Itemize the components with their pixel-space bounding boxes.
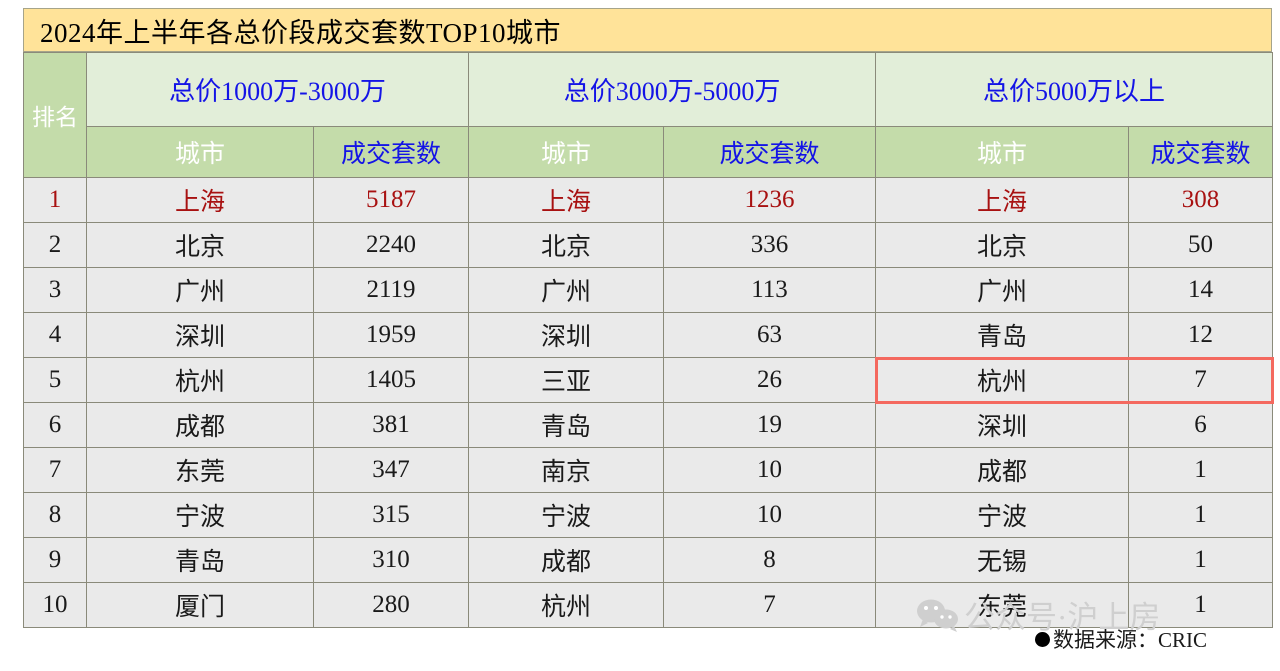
- cell-count-2: 26: [664, 358, 876, 403]
- cell-rank: 5: [24, 358, 87, 403]
- table-row: 10厦门280杭州7东莞1: [24, 583, 1273, 628]
- cell-count-2: 63: [664, 313, 876, 358]
- cell-count-3: 14: [1129, 268, 1273, 313]
- cell-count-2: 19: [664, 403, 876, 448]
- cell-count-3: 12: [1129, 313, 1273, 358]
- cell-city-2: 南京: [469, 448, 664, 493]
- group-header-1: 总价1000万-3000万: [87, 53, 469, 127]
- column-header-count-3: 成交套数: [1129, 127, 1273, 178]
- cell-city-1: 广州: [87, 268, 314, 313]
- cell-city-3: 成都: [876, 448, 1129, 493]
- cell-city-1: 上海: [87, 178, 314, 223]
- ranking-table: 排名 总价1000万-3000万 总价3000万-5000万 总价5000万以上…: [23, 52, 1273, 628]
- cell-rank: 6: [24, 403, 87, 448]
- column-header-city-1: 城市: [87, 127, 314, 178]
- cell-count-1: 1405: [314, 358, 469, 403]
- cell-count-1: 2119: [314, 268, 469, 313]
- column-header-count-1: 成交套数: [314, 127, 469, 178]
- cell-rank: 4: [24, 313, 87, 358]
- cell-city-1: 杭州: [87, 358, 314, 403]
- bullet-icon: [1035, 632, 1050, 647]
- cell-count-2: 10: [664, 493, 876, 538]
- column-header-city-3: 城市: [876, 127, 1129, 178]
- table-row: 1上海5187上海1236上海308: [24, 178, 1273, 223]
- cell-count-3: 6: [1129, 403, 1273, 448]
- cell-rank: 10: [24, 583, 87, 628]
- cell-city-2: 青岛: [469, 403, 664, 448]
- cell-city-2: 上海: [469, 178, 664, 223]
- cell-count-2: 10: [664, 448, 876, 493]
- column-header-city-2: 城市: [469, 127, 664, 178]
- table-row: 7东莞347南京10成都1: [24, 448, 1273, 493]
- table-row: 6成都381青岛19深圳6: [24, 403, 1273, 448]
- cell-city-3: 青岛: [876, 313, 1129, 358]
- cell-count-1: 280: [314, 583, 469, 628]
- cell-city-1: 宁波: [87, 493, 314, 538]
- table-title-bar: 2024年上半年各总价段成交套数TOP10城市: [23, 8, 1272, 52]
- cell-count-1: 315: [314, 493, 469, 538]
- column-header-rank: 排名: [24, 53, 87, 178]
- group-header-2: 总价3000万-5000万: [469, 53, 876, 127]
- table-row: 2北京2240北京336北京50: [24, 223, 1273, 268]
- cell-city-3: 广州: [876, 268, 1129, 313]
- cell-city-1: 厦门: [87, 583, 314, 628]
- cell-city-1: 深圳: [87, 313, 314, 358]
- cell-rank: 2: [24, 223, 87, 268]
- cell-count-1: 1959: [314, 313, 469, 358]
- cell-city-3: 北京: [876, 223, 1129, 268]
- cell-count-2: 7: [664, 583, 876, 628]
- cell-count-1: 310: [314, 538, 469, 583]
- cell-count-3: 7: [1129, 358, 1273, 403]
- cell-city-2: 成都: [469, 538, 664, 583]
- cell-rank: 8: [24, 493, 87, 538]
- sub-header-row: 城市 成交套数 城市 成交套数 城市 成交套数: [24, 127, 1273, 178]
- cell-rank: 9: [24, 538, 87, 583]
- cell-city-3: 上海: [876, 178, 1129, 223]
- cell-count-2: 8: [664, 538, 876, 583]
- cell-count-1: 2240: [314, 223, 469, 268]
- cell-city-1: 青岛: [87, 538, 314, 583]
- cell-count-2: 113: [664, 268, 876, 313]
- cell-count-3: 1: [1129, 538, 1273, 583]
- cell-count-2: 1236: [664, 178, 876, 223]
- cell-count-2: 336: [664, 223, 876, 268]
- column-header-count-2: 成交套数: [664, 127, 876, 178]
- cell-city-3: 宁波: [876, 493, 1129, 538]
- cell-city-2: 北京: [469, 223, 664, 268]
- table-row: 8宁波315宁波10宁波1: [24, 493, 1273, 538]
- table-row: 9青岛310成都8无锡1: [24, 538, 1273, 583]
- group-header-3: 总价5000万以上: [876, 53, 1273, 127]
- cell-city-2: 宁波: [469, 493, 664, 538]
- cell-city-1: 成都: [87, 403, 314, 448]
- cell-city-2: 三亚: [469, 358, 664, 403]
- cell-city-3: 杭州: [876, 358, 1129, 403]
- table-row: 3广州2119广州113广州14: [24, 268, 1273, 313]
- cell-city-2: 深圳: [469, 313, 664, 358]
- table-row: 5杭州1405三亚26杭州7: [24, 358, 1273, 403]
- table-head: 排名 总价1000万-3000万 总价3000万-5000万 总价5000万以上…: [24, 53, 1273, 178]
- cell-city-2: 广州: [469, 268, 664, 313]
- cell-count-1: 381: [314, 403, 469, 448]
- cell-count-3: 1: [1129, 583, 1273, 628]
- table-body: 1上海5187上海1236上海3082北京2240北京336北京503广州211…: [24, 178, 1273, 628]
- group-header-row: 排名 总价1000万-3000万 总价3000万-5000万 总价5000万以上: [24, 53, 1273, 127]
- cell-city-3: 深圳: [876, 403, 1129, 448]
- cell-city-2: 杭州: [469, 583, 664, 628]
- cell-rank: 1: [24, 178, 87, 223]
- cell-city-1: 北京: [87, 223, 314, 268]
- cell-city-3: 东莞: [876, 583, 1129, 628]
- cell-count-3: 50: [1129, 223, 1273, 268]
- cell-count-3: 308: [1129, 178, 1273, 223]
- cell-rank: 3: [24, 268, 87, 313]
- cell-city-3: 无锡: [876, 538, 1129, 583]
- table-row: 4深圳1959深圳63青岛12: [24, 313, 1273, 358]
- cell-rank: 7: [24, 448, 87, 493]
- cell-count-3: 1: [1129, 493, 1273, 538]
- page-title: 2024年上半年各总价段成交套数TOP10城市: [40, 11, 561, 50]
- cell-count-3: 1: [1129, 448, 1273, 493]
- cell-count-1: 347: [314, 448, 469, 493]
- cell-count-1: 5187: [314, 178, 469, 223]
- cell-city-1: 东莞: [87, 448, 314, 493]
- source-note: 数据来源：CRIC: [1035, 624, 1207, 654]
- source-note-text: 数据来源：CRIC: [1053, 624, 1207, 654]
